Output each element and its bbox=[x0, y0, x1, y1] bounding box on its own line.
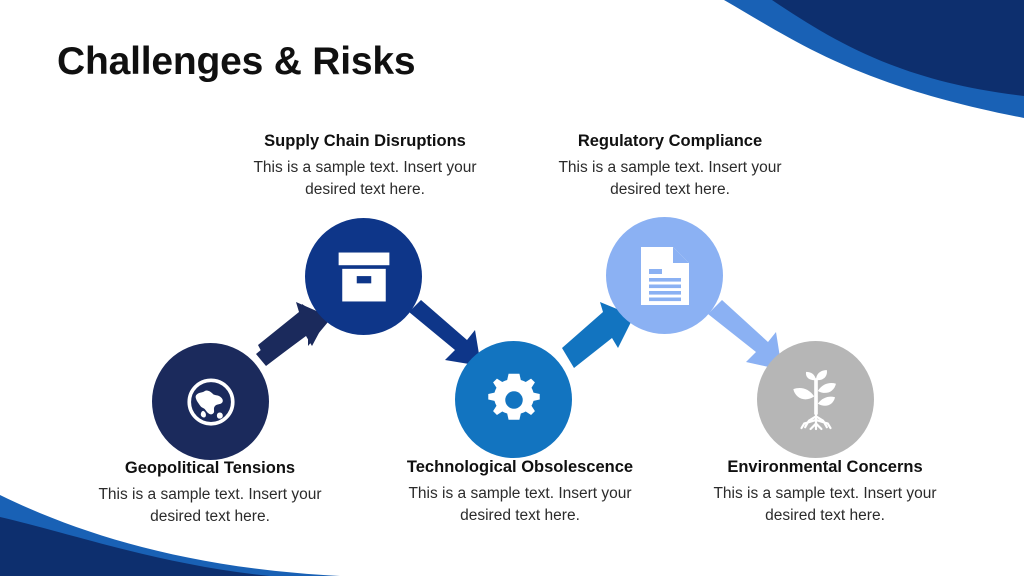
slide-canvas: Challenges & Risks Geopolitical Tensions… bbox=[0, 0, 1024, 576]
node-body-line2-geopolitical-tensions: desired text here. bbox=[55, 506, 365, 528]
node-title-geopolitical-tensions: Geopolitical Tensions bbox=[55, 458, 365, 479]
node-body-line1-environmental-concerns: This is a sample text. Insert your bbox=[670, 483, 980, 505]
node-body-line1-supply-chain-disruptions: This is a sample text. Insert your bbox=[215, 157, 515, 179]
node-circle-environmental-concerns[interactable] bbox=[757, 341, 874, 458]
node-title-supply-chain-disruptions: Supply Chain Disruptions bbox=[215, 131, 515, 152]
node-caption-supply-chain-disruptions: Supply Chain Disruptions This is a sampl… bbox=[215, 131, 515, 201]
node-body-line2-environmental-concerns: desired text here. bbox=[670, 505, 980, 527]
seedling-plant-icon bbox=[787, 369, 845, 431]
node-title-environmental-concerns: Environmental Concerns bbox=[670, 457, 980, 478]
globe-icon bbox=[182, 373, 240, 431]
top-right-wave-decoration bbox=[604, 0, 1024, 150]
node-body-line1-regulatory-compliance: This is a sample text. Insert your bbox=[520, 157, 820, 179]
gear-icon bbox=[486, 372, 542, 428]
node-title-regulatory-compliance: Regulatory Compliance bbox=[520, 131, 820, 152]
node-body-line2-technological-obsolescence: desired text here. bbox=[365, 505, 675, 527]
node-caption-regulatory-compliance: Regulatory Compliance This is a sample t… bbox=[520, 131, 820, 201]
node-title-technological-obsolescence: Technological Obsolescence bbox=[365, 457, 675, 478]
document-icon bbox=[639, 245, 691, 307]
archive-box-icon bbox=[335, 250, 393, 304]
node-body-line1-geopolitical-tensions: This is a sample text. Insert your bbox=[55, 484, 365, 506]
node-caption-environmental-concerns: Environmental Concerns This is a sample … bbox=[670, 457, 980, 527]
node-caption-geopolitical-tensions: Geopolitical Tensions This is a sample t… bbox=[55, 458, 365, 528]
node-caption-technological-obsolescence: Technological Obsolescence This is a sam… bbox=[365, 457, 675, 527]
node-circle-technological-obsolescence[interactable] bbox=[455, 341, 572, 458]
node-body-line2-regulatory-compliance: desired text here. bbox=[520, 179, 820, 201]
node-body-line1-technological-obsolescence: This is a sample text. Insert your bbox=[365, 483, 675, 505]
page-title: Challenges & Risks bbox=[57, 40, 415, 84]
node-body-line2-supply-chain-disruptions: desired text here. bbox=[215, 179, 515, 201]
